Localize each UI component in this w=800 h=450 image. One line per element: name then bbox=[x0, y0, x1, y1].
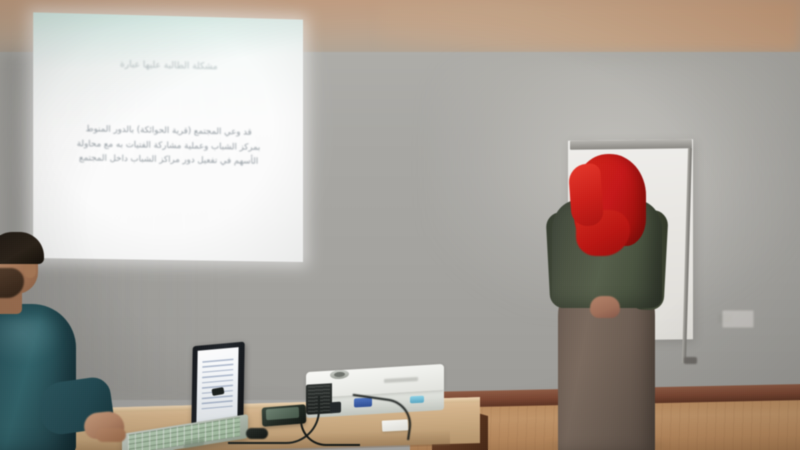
presenter-hijab-front bbox=[568, 163, 604, 227]
presentation-room-photo: مشكلة الطالبة عليها عبارة قد وعي المجتمع… bbox=[0, 0, 800, 450]
wall-outlet bbox=[722, 310, 754, 328]
mouse[interactable] bbox=[246, 428, 268, 439]
paper-slip bbox=[382, 419, 409, 431]
projected-slide: مشكلة الطالبة عليها عبارة قد وعي المجتمع… bbox=[33, 12, 303, 262]
projector-indicator bbox=[410, 396, 424, 404]
slide-surface: مشكلة الطالبة عليها عبارة قد وعي المجتمع… bbox=[33, 12, 303, 262]
slide-vignette bbox=[33, 12, 303, 262]
seated-man-ear bbox=[24, 262, 36, 278]
standing-presenter bbox=[540, 152, 690, 450]
projector-power-switch[interactable] bbox=[330, 402, 341, 414]
ceiling-warm-light bbox=[380, 0, 800, 52]
flipchart-top-bar bbox=[570, 139, 692, 149]
presenter-hands bbox=[590, 296, 620, 318]
seated-man bbox=[0, 232, 134, 450]
seated-man-fingers bbox=[96, 428, 126, 442]
seated-man-hair bbox=[0, 232, 44, 264]
seated-man-shoulder-highlight bbox=[0, 318, 64, 364]
